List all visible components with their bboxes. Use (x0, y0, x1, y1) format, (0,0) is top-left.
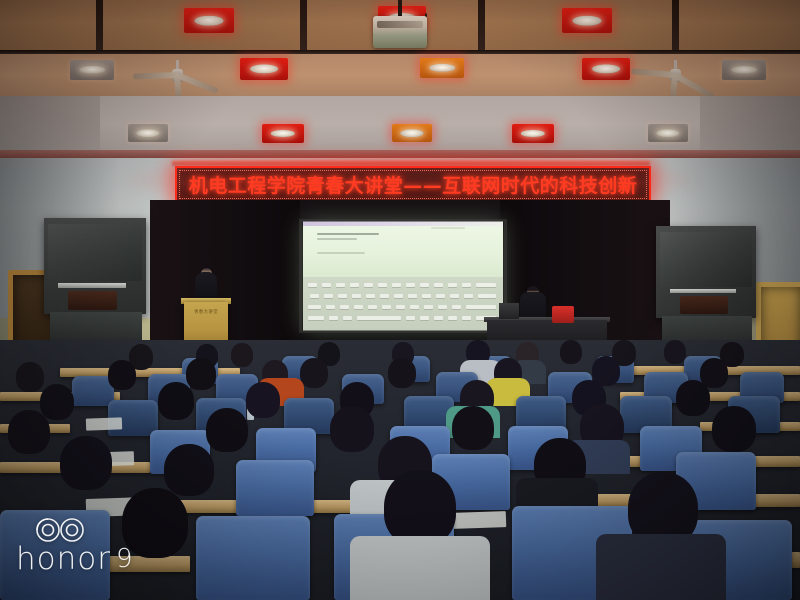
ceiling-beam (96, 0, 103, 54)
paper-sheet (86, 417, 122, 430)
attendee-head (384, 470, 456, 546)
attendee-head (206, 408, 248, 452)
speaker-cabinet-left (44, 218, 146, 314)
ceiling-light (240, 58, 288, 80)
attendee-head (8, 410, 50, 454)
attendee-head (108, 360, 136, 390)
laptop (499, 303, 519, 319)
ceiling-light (648, 124, 688, 142)
red-bag (552, 306, 574, 323)
attendee-head (164, 444, 214, 496)
attendee-head (560, 340, 582, 364)
attendee-head (664, 340, 686, 364)
seat[interactable] (196, 516, 310, 600)
ceiling-fan (132, 60, 222, 90)
attendee-body (596, 534, 726, 600)
attendee-head (122, 488, 188, 558)
attendee-head (40, 384, 74, 420)
attendee-head (452, 406, 494, 450)
ceiling-light (420, 58, 464, 78)
ceiling-soffit-left (0, 96, 100, 158)
ceiling-light (184, 8, 234, 33)
podium-sign-text: 青春大讲堂 (184, 309, 228, 315)
attendee-head (330, 406, 374, 452)
attendee-head (246, 382, 280, 418)
attendee-head (712, 406, 756, 452)
ceiling-projector (373, 16, 427, 48)
paper-sheet (452, 511, 507, 529)
attendee-head (300, 358, 328, 388)
ceiling-beam (478, 0, 485, 54)
attendee-head (158, 382, 194, 420)
attendee-head (186, 358, 216, 390)
attendee-head (60, 436, 112, 490)
attendee-head (16, 362, 44, 392)
attendee-body (350, 536, 490, 600)
led-banner-text: 机电工程学院青春大讲堂——互联网时代的科技创新 (189, 171, 638, 198)
ceiling-light (582, 58, 630, 80)
attendee-head (388, 358, 416, 388)
led-banner: 机电工程学院青春大讲堂——互联网时代的科技创新 (175, 166, 651, 203)
attendee-head (231, 343, 253, 367)
projection-screen-frame (299, 219, 507, 333)
speaker-cabinet-right (656, 226, 756, 318)
ceiling-light (128, 124, 168, 142)
ceiling-beam (300, 0, 307, 54)
ceiling-light (512, 124, 554, 143)
photo-canvas: 机电工程学院青春大讲堂——互联网时代的科技创新 (0, 0, 800, 600)
attendee-head (676, 380, 710, 416)
seat[interactable] (0, 510, 110, 600)
ceiling-light (722, 60, 766, 80)
ceiling-light (70, 60, 114, 80)
ceiling-soffit-right (700, 96, 800, 158)
ceiling-beam (672, 0, 679, 54)
seat[interactable] (236, 460, 314, 516)
ceiling-fan (630, 60, 720, 90)
ceiling-light (562, 8, 612, 33)
ceiling-light (392, 124, 432, 142)
ceiling-light (262, 124, 304, 143)
